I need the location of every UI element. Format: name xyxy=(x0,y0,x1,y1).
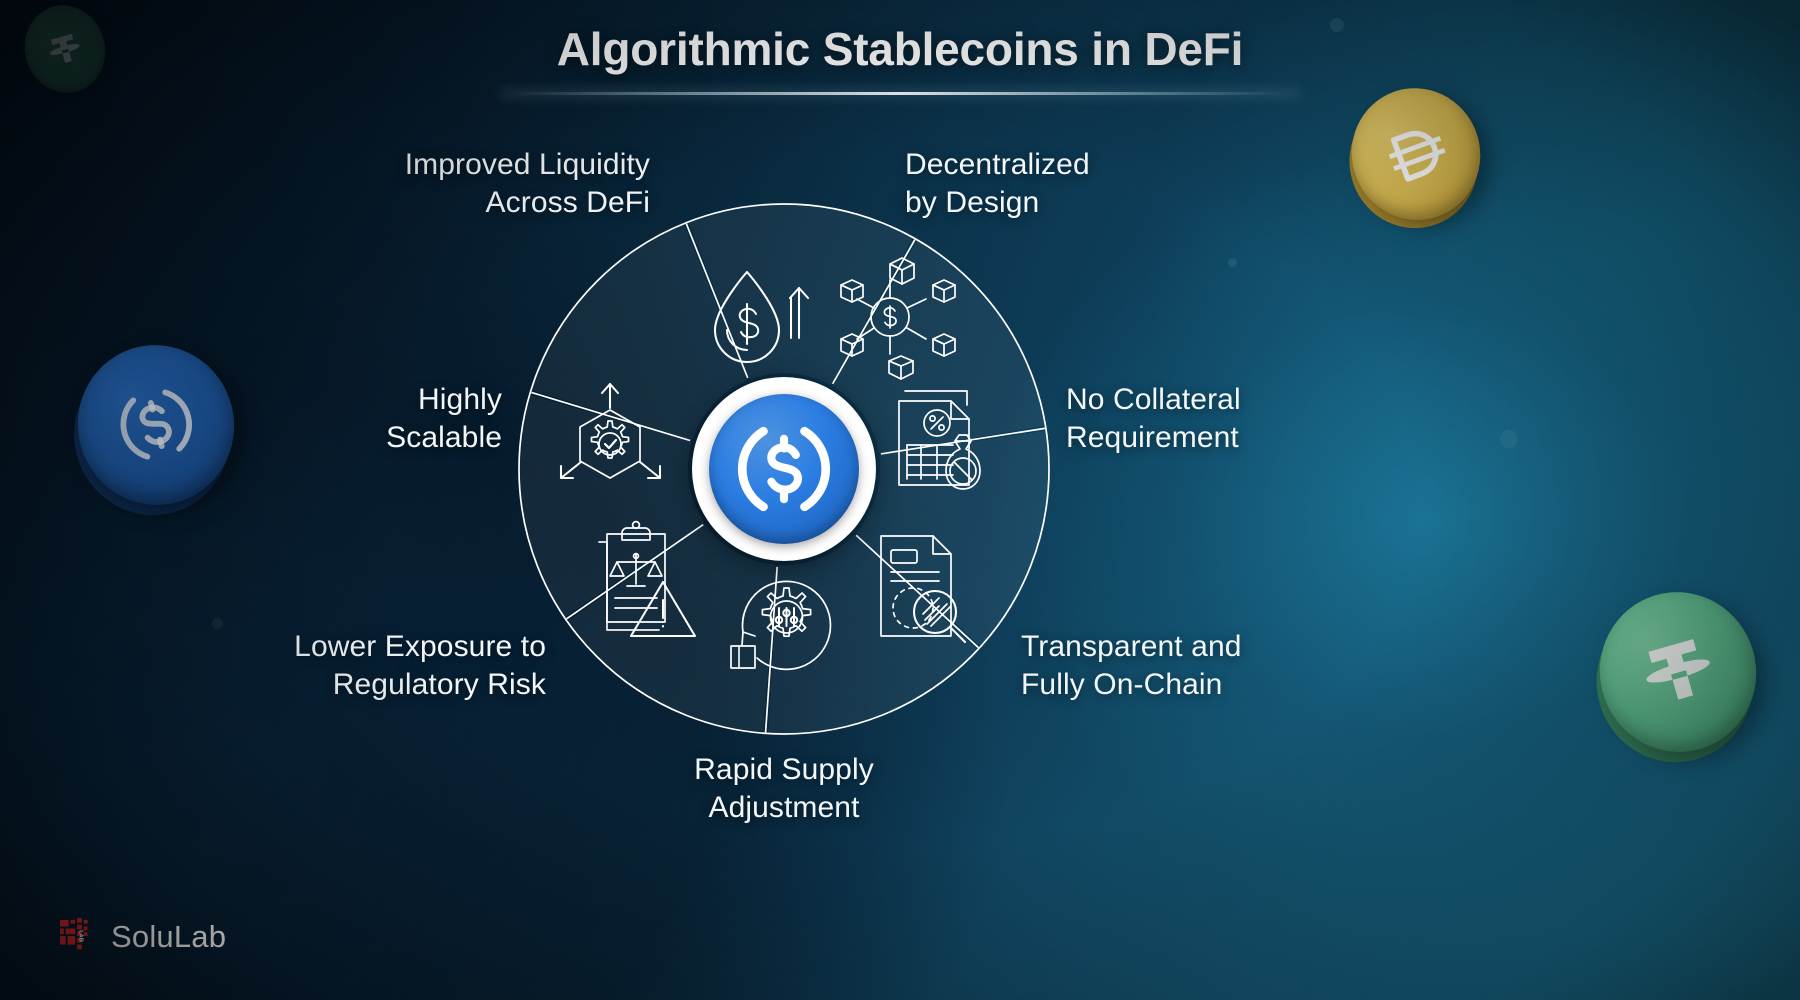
title-block: Algorithmic Stablecoins in DeFi xyxy=(0,22,1800,95)
infographic-canvas: Algorithmic Stablecoins in DeFi xyxy=(0,0,1800,1000)
wheel-label-no-collateral: No Collateral Requirement xyxy=(1066,381,1466,457)
tether-coin-icon xyxy=(1618,611,1738,733)
solulab-pixel-logo-icon: LAB xyxy=(60,918,98,956)
wheel-label-improved-liquidity: Improved Liquidity Across DeFi xyxy=(250,146,650,222)
svg-text:LAB: LAB xyxy=(77,930,83,942)
wheel-label-rapid-supply: Rapid Supply Adjustment xyxy=(584,751,984,827)
wheel-label-lower-regulatory-risk: Lower Exposure to Regulatory Risk xyxy=(146,628,546,704)
wheel-label-highly-scalable: Highly Scalable xyxy=(102,381,502,457)
title-divider xyxy=(500,92,1300,95)
usdc-glyph xyxy=(730,415,838,523)
usdc-dollar-coin-icon xyxy=(709,394,859,544)
brand-logo: LAB SoluLab xyxy=(60,918,226,956)
dai-coin-icon xyxy=(1365,102,1468,206)
bokeh-dot xyxy=(1228,258,1237,267)
wheel-label-decentralized: Decentralized by Design xyxy=(905,146,1305,222)
bokeh-dot xyxy=(1500,430,1518,448)
wheel-label-transparent-onchain: Transparent and Fully On-Chain xyxy=(1021,628,1441,704)
page-title: Algorithmic Stablecoins in DeFi xyxy=(0,22,1800,76)
wheel-center-hub xyxy=(692,377,876,561)
decorative-coin-usdt-bottom-right xyxy=(1581,574,1775,771)
segmented-wheel xyxy=(517,202,1051,736)
decorative-coin-dai xyxy=(1333,70,1498,238)
brand-name: SoluLab xyxy=(111,919,226,955)
